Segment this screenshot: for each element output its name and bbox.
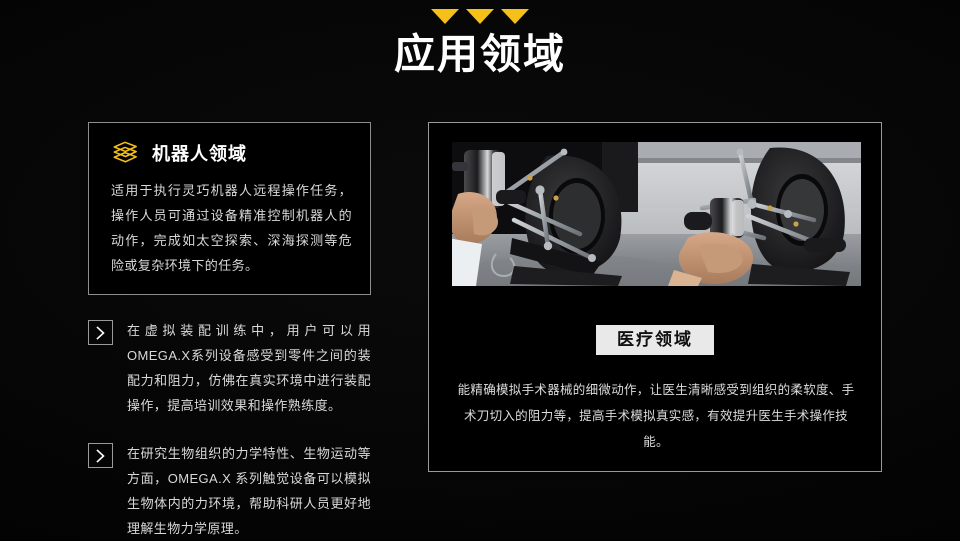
feature-card-robotics: 机器人领域 适用于执行灵巧机器人远程操作任务，操作人员可通过设备精准控制机器人的… bbox=[88, 122, 371, 295]
chevron-right-icon bbox=[88, 320, 113, 345]
feature-card-body: 适用于执行灵巧机器人远程操作任务，操作人员可通过设备精准控制机器人的动作，完成如… bbox=[111, 178, 352, 278]
left-column: 机器人领域 适用于执行灵巧机器人远程操作任务，操作人员可通过设备精准控制机器人的… bbox=[88, 122, 371, 541]
triangle-decoration-row bbox=[0, 0, 960, 25]
chevron-right-icon bbox=[88, 443, 113, 468]
page-title: 应用领域 bbox=[0, 31, 960, 77]
bullet-text: 在研究生物组织的力学特性、生物运动等方面，OMEGA.X 系列触觉设备可以模拟生… bbox=[127, 441, 371, 541]
bullet-item: 在研究生物组织的力学特性、生物运动等方面，OMEGA.X 系列触觉设备可以模拟生… bbox=[88, 441, 371, 541]
slide-root: 应用领域 机器人领域 适用于执行灵巧机器人远程操作任务，操作人员可通过设备精准控… bbox=[0, 0, 960, 540]
layers-stack-icon bbox=[111, 140, 139, 166]
bullet-item: 在虚拟装配训练中，用户可以用OMEGA.X系列设备感受到零件之间的装配力和阻力，… bbox=[88, 318, 371, 418]
status-badge: 医疗领域 bbox=[596, 325, 714, 355]
triangle-down-icon bbox=[501, 9, 529, 24]
medical-field-panel: 医疗领域 能精确模拟手术器械的细微动作，让医生清晰感受到组织的柔软度、手术刀切入… bbox=[428, 122, 882, 472]
feature-card-header: 机器人领域 bbox=[111, 140, 352, 166]
slide-header: 应用领域 bbox=[0, 0, 960, 77]
feature-card-title: 机器人领域 bbox=[152, 140, 247, 166]
haptic-device-photo bbox=[452, 142, 861, 286]
triangle-down-icon bbox=[466, 9, 494, 24]
triangle-down-icon bbox=[431, 9, 459, 24]
medical-field-description: 能精确模拟手术器械的细微动作，让医生清晰感受到组织的柔软度、手术刀切入的阻力等，… bbox=[457, 377, 855, 455]
medical-badge-wrap: 医疗领域 bbox=[429, 325, 881, 355]
bullet-text: 在虚拟装配训练中，用户可以用OMEGA.X系列设备感受到零件之间的装配力和阻力，… bbox=[127, 318, 371, 418]
